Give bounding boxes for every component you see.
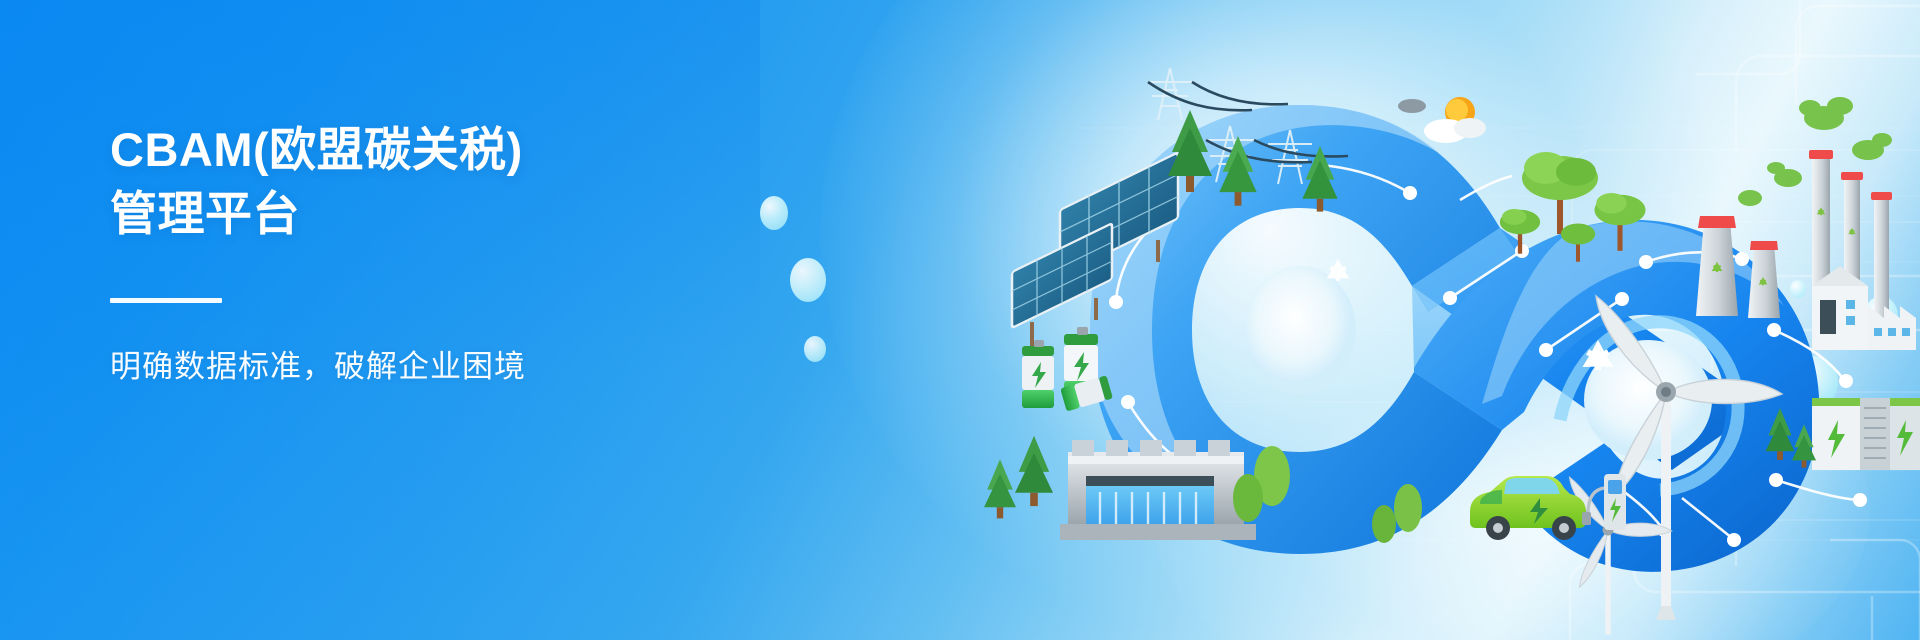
hero-text-block: CBAM(欧盟碳关税)管理平台 明确数据标准，破解企业困境 xyxy=(110,118,770,389)
title-line-2: 管理平台 xyxy=(110,182,770,246)
hydro-dam-icon xyxy=(1060,440,1256,540)
pine-tree-icon xyxy=(984,436,1053,519)
factory-icon xyxy=(1812,266,1916,350)
carbon-neutral-infinity-graphic xyxy=(760,0,1920,640)
page-title: CBAM(欧盟碳关税)管理平台 xyxy=(110,118,770,246)
loop-hole-left xyxy=(1244,266,1356,394)
hero-illustration xyxy=(760,0,1920,640)
battery-storage-icon xyxy=(1812,398,1920,470)
title-divider xyxy=(110,298,222,303)
page-subtitle: 明确数据标准，破解企业困境 xyxy=(110,345,770,389)
title-line-1: CBAM(欧盟碳关税) xyxy=(110,123,523,176)
cbam-hero-banner: CBAM(欧盟碳关税)管理平台 明确数据标准，破解企业困境 xyxy=(0,0,1920,640)
